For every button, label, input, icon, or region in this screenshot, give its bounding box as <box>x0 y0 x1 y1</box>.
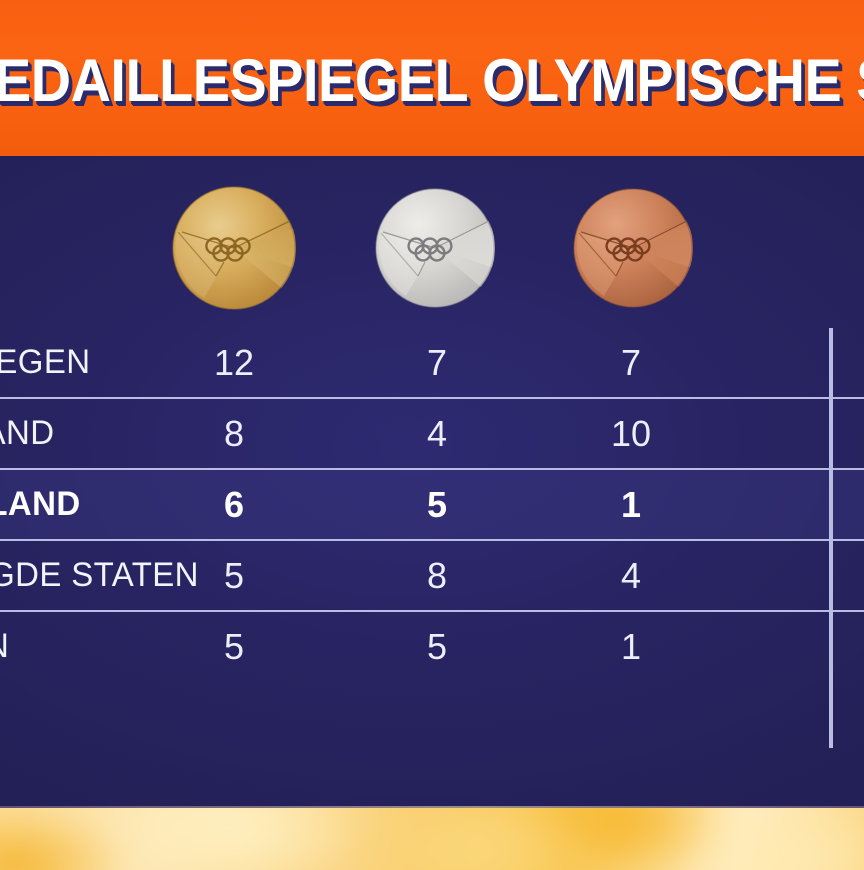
silver-count: 7 <box>382 328 492 397</box>
table-row[interactable]: ZWEDEN 5 5 1 <box>0 610 864 681</box>
bottom-blur-band <box>0 808 864 870</box>
silver-count: 4 <box>382 399 492 468</box>
bronze-count: 10 <box>576 399 686 468</box>
country-name: NEDERLAND <box>0 470 81 539</box>
table-row-highlighted[interactable]: NEDERLAND 6 5 1 <box>0 468 864 539</box>
gold-medal-icon <box>172 186 296 310</box>
country-name: NOORWEGEN <box>0 328 90 397</box>
bronze-count: 7 <box>576 328 686 397</box>
bronze-count: 4 <box>576 541 686 610</box>
medal-table: NOORWEGEN 12 7 7 DUITSLAND 8 4 10 NEDERL… <box>0 328 864 681</box>
silver-medal-icon <box>375 188 495 308</box>
medal-column-headers <box>0 186 864 314</box>
gold-count: 6 <box>179 470 289 539</box>
country-name: VERENIGDE STATEN <box>0 541 199 610</box>
blurred-gold-backdrop <box>0 808 864 870</box>
gold-count: 5 <box>179 541 289 610</box>
country-name: DUITSLAND <box>0 399 54 468</box>
table-row[interactable]: VERENIGDE STATEN 5 8 4 <box>0 539 864 610</box>
country-name: ZWEDEN <box>0 612 9 681</box>
gold-count: 5 <box>179 612 289 681</box>
silver-count: 5 <box>382 612 492 681</box>
total-column-divider <box>829 328 833 748</box>
page-title: MEDAILLESPIEGEL OLYMPISCHE SPELEN <box>0 50 864 112</box>
bronze-count: 1 <box>576 612 686 681</box>
table-stage: NOORWEGEN 12 7 7 DUITSLAND 8 4 10 NEDERL… <box>0 156 864 808</box>
silver-count: 8 <box>382 541 492 610</box>
table-row[interactable]: NOORWEGEN 12 7 7 <box>0 328 864 397</box>
bronze-medal-icon <box>573 188 693 308</box>
gold-count: 12 <box>179 328 289 397</box>
table-row[interactable]: DUITSLAND 8 4 10 <box>0 397 864 468</box>
silver-count: 5 <box>382 470 492 539</box>
medal-table-graphic: MEDAILLESPIEGEL OLYMPISCHE SPELEN <box>0 0 864 870</box>
bronze-count: 1 <box>576 470 686 539</box>
title-banner: MEDAILLESPIEGEL OLYMPISCHE SPELEN <box>0 0 864 156</box>
gold-count: 8 <box>179 399 289 468</box>
